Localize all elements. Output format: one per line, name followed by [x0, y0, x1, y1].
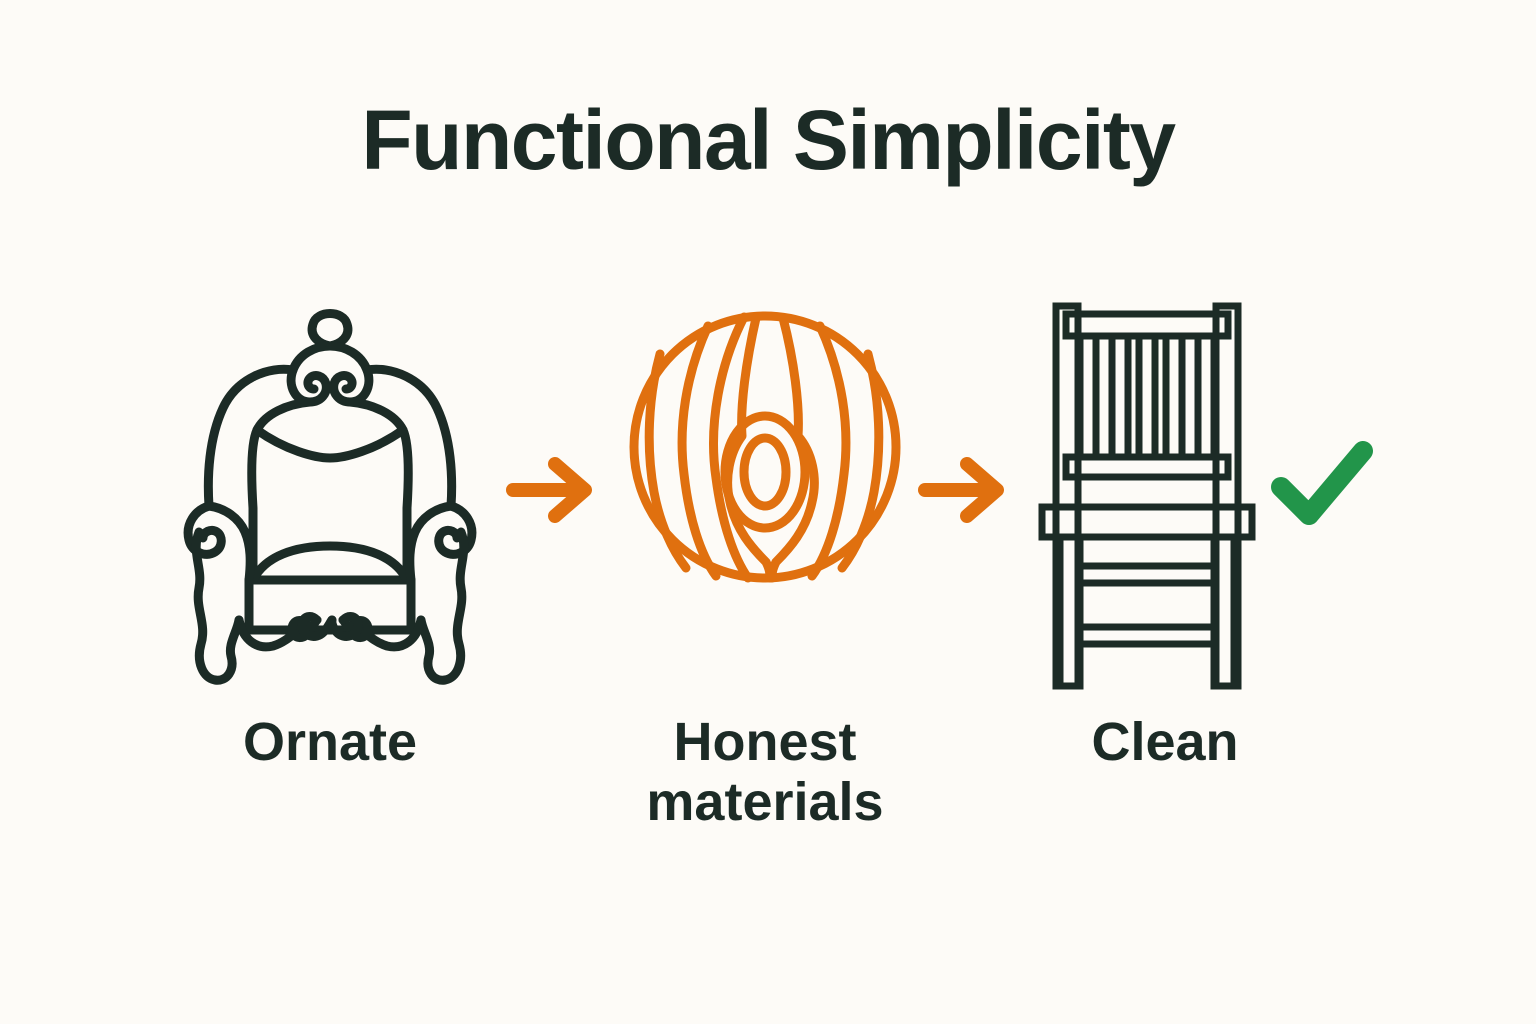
stage-labels: Ornate Honest materials Clean: [120, 712, 1420, 892]
stage-label-ornate: Ornate: [165, 712, 495, 772]
arrow-right-icon: [917, 455, 1012, 530]
wood-grain-circle-icon: [620, 302, 910, 597]
arrow-right-icon: [505, 455, 600, 530]
page-title: Functional Simplicity: [0, 96, 1536, 184]
ornate-armchair-icon: [165, 280, 495, 705]
stage-label-materials-line-1: Honest: [585, 712, 945, 772]
stage-label-ornate-line-1: Ornate: [165, 712, 495, 772]
check-mark-icon: [1267, 435, 1377, 535]
stage-ornate: [165, 280, 495, 700]
stage-label-clean: Clean: [1020, 712, 1310, 772]
infographic-canvas: Functional Simplicity: [0, 0, 1536, 1024]
flow-diagram: [120, 280, 1420, 700]
stage-label-materials-line-2: materials: [585, 772, 945, 832]
stage-label-materials: Honest materials: [585, 712, 945, 833]
stage-materials: [620, 280, 910, 700]
stage-label-clean-line-1: Clean: [1020, 712, 1310, 772]
